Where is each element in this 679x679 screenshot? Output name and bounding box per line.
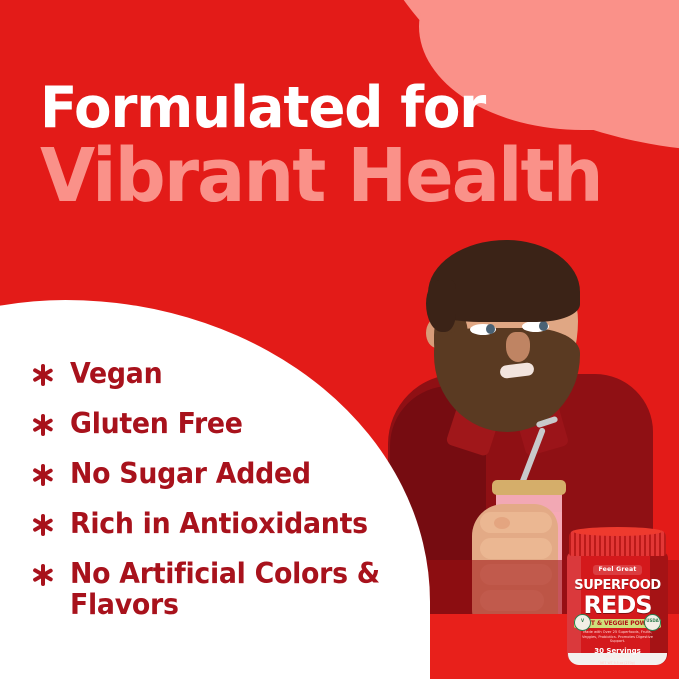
list-item: No Sugar Added bbox=[30, 458, 410, 489]
glass-lid bbox=[492, 480, 566, 495]
product-brand: Feel Great bbox=[593, 565, 641, 575]
headline-line-2: Vibrant Health bbox=[40, 140, 638, 212]
list-item: Gluten Free bbox=[30, 408, 410, 439]
finger bbox=[480, 512, 552, 533]
benefit-label: Rich in Antioxidants bbox=[70, 508, 368, 539]
hair-side bbox=[426, 280, 456, 332]
product-tub: Feel Great SUPERFOOD REDS FRUIT & VEGGIE… bbox=[567, 530, 668, 665]
benefits-list: Vegan Gluten Free No Sugar Added Rich in… bbox=[30, 358, 410, 639]
asterisk-icon bbox=[30, 458, 56, 488]
promo-card: Formulated for Vibrant Health bbox=[0, 0, 679, 679]
benefit-label: No Artificial Colors & Flavors bbox=[70, 558, 390, 620]
tub-lid-top bbox=[573, 527, 662, 536]
product-net-weight: NET WT 9.5 oz (270g) bbox=[571, 661, 664, 666]
headline-line-1: Formulated for bbox=[40, 78, 635, 138]
headline: Formulated for Vibrant Health bbox=[40, 78, 660, 212]
thumbnail bbox=[494, 517, 510, 529]
organic-seal-label: USDA bbox=[645, 615, 660, 627]
benefit-label: No Sugar Added bbox=[70, 458, 311, 489]
asterisk-icon bbox=[30, 408, 56, 438]
product-servings: 30 Servings bbox=[571, 647, 664, 655]
list-item: Rich in Antioxidants bbox=[30, 508, 410, 539]
tub-label: Feel Great SUPERFOOD REDS FRUIT & VEGGIE… bbox=[571, 558, 664, 650]
pupil-right bbox=[539, 321, 548, 331]
benefit-label: Gluten Free bbox=[70, 408, 243, 439]
organic-seal-icon: USDA bbox=[644, 614, 661, 631]
vegan-seal-icon: V bbox=[574, 614, 591, 631]
pupil-left bbox=[486, 324, 495, 334]
asterisk-icon bbox=[30, 558, 56, 588]
list-item: No Artificial Colors & Flavors bbox=[30, 558, 410, 620]
finger bbox=[480, 538, 552, 559]
benefit-label: Vegan bbox=[70, 358, 162, 389]
product-description: Made with Over 25 Superfoods, Fruits, Ve… bbox=[577, 630, 658, 644]
nose bbox=[506, 332, 530, 362]
vegan-seal-label: V bbox=[575, 615, 590, 627]
list-item: Vegan bbox=[30, 358, 410, 389]
asterisk-icon bbox=[30, 358, 56, 388]
asterisk-icon bbox=[30, 508, 56, 538]
